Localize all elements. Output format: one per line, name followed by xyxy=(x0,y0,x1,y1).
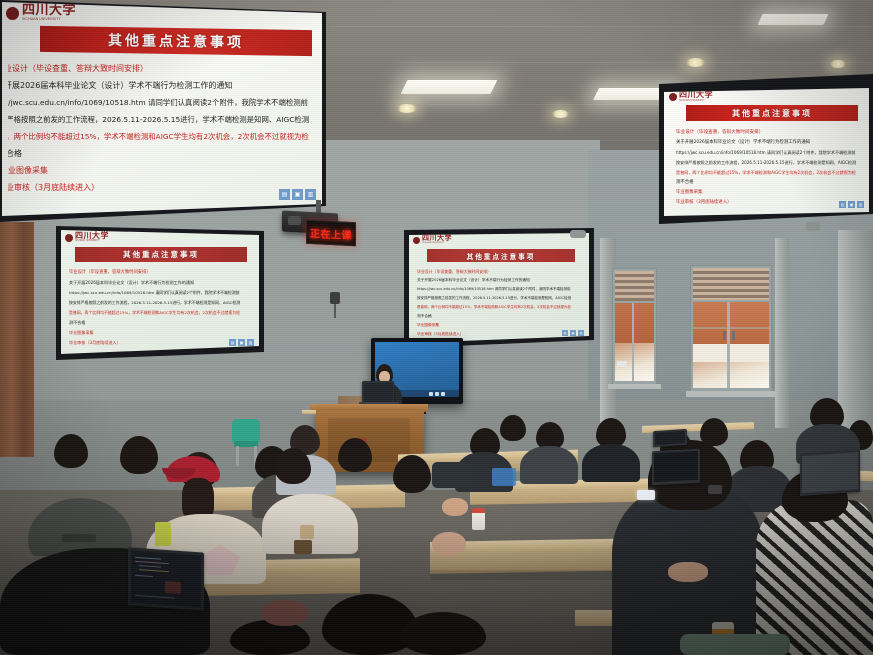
audience-head xyxy=(120,436,158,474)
window-handle-icon[interactable] xyxy=(723,331,726,340)
eyeglasses-icon xyxy=(708,485,722,494)
slide-line-2: 关于开展2026届本科毕业论文（设计）学术不端行为检测工作的通知 xyxy=(676,138,866,148)
desk-item-paper xyxy=(300,525,314,539)
slide-line-1: 毕业设计（毕设查重、答辩大致时间安排） xyxy=(69,268,255,278)
wall-vent-icon xyxy=(806,222,820,231)
slide-line-6: 测不合格 xyxy=(8,145,318,162)
slide-tool-icon-2[interactable]: ▣ xyxy=(848,201,855,208)
slide-line-2: 关于开展2026届本科毕业论文（设计）学术不端行为检测工作的通知 xyxy=(8,77,318,94)
student-laptop-screen xyxy=(655,431,685,445)
slide-corner-icons[interactable]: ▤ ▣ ▥ xyxy=(562,330,584,336)
slide-tool-icon-3[interactable]: ▥ xyxy=(578,330,584,336)
lectern-shelf xyxy=(302,410,316,414)
slide-body: 毕业设计（毕设查重、答辩大致时间安排） 关于开展2026届本科毕业论文（设计）学… xyxy=(69,268,255,352)
outside-brick-wall xyxy=(615,303,654,343)
student-hand xyxy=(668,562,708,582)
slide-line-4: 按安排严格按照之前发的工作流程，2026.5.11-2026.5.15进行，学术… xyxy=(676,158,866,168)
window-sill-small xyxy=(608,384,661,389)
audience-body xyxy=(582,444,640,482)
slide-line-5: 是普网，两个比例均不能超过15%，学术不端检测和AIGC学生均有2次机会，2次机… xyxy=(69,308,255,318)
university-name-cn: 四川大学 xyxy=(679,91,713,99)
presenter-laptop[interactable] xyxy=(362,381,394,403)
student-laptop-far[interactable] xyxy=(653,429,687,447)
audience-head xyxy=(500,415,526,441)
slide-line-1: 毕业设计（毕设查重、答辩大致时间安排） xyxy=(8,60,318,77)
laptop-content-block xyxy=(165,581,181,594)
window-sill-large xyxy=(686,391,776,397)
left-display-slide: 四川大学 SICHUAN UNIVERSITY 其他重点注意事项 毕业设计（毕设… xyxy=(61,230,259,354)
window-blind[interactable] xyxy=(693,268,769,300)
water-bottle-right[interactable] xyxy=(472,508,485,530)
slide-body: 毕业设计（毕设查重、答辩大致时间安排） 关于开展2026届本科毕业论文（设计）学… xyxy=(8,60,318,200)
foreground-head xyxy=(400,612,486,655)
slide-title: 其他重点注意事项 xyxy=(732,108,812,119)
spare-chair[interactable] xyxy=(232,419,260,443)
slide-line-8: 毕业审核（3月底陆续进入） xyxy=(676,198,866,208)
student-laptop-foreground[interactable] xyxy=(128,547,204,610)
slide-tool-icon-3[interactable]: ▥ xyxy=(305,189,316,200)
slide-line-8: 毕业审核（3月底陆续进入） xyxy=(69,338,255,348)
university-name-cn: 四川大学 xyxy=(22,4,76,17)
foreground-head xyxy=(230,620,310,655)
audience-head xyxy=(275,448,311,484)
slide-line-1: 毕业设计（毕设查重、答辩大致时间安排） xyxy=(417,267,585,276)
slide-line-5: 是普网，两个比例均不能超过15%，学术不端检测和AIGC学生均有2次机会，2次机… xyxy=(417,303,585,312)
desk-item-box xyxy=(294,540,312,554)
student-laptop-right[interactable] xyxy=(800,450,860,496)
slide-line-5: 是普网，两个比例均不能超过15%，学术不端检测和AIGC学生均有2次机会，2次机… xyxy=(676,168,866,178)
outside-pavement xyxy=(693,344,769,362)
ceiling-speaker-icon xyxy=(570,230,586,238)
university-seal-icon xyxy=(413,237,420,244)
slide-title-banner: 其他重点注意事项 xyxy=(686,105,858,121)
left-side-display[interactable]: 四川大学 SICHUAN UNIVERSITY 其他重点注意事项 毕业设计（毕设… xyxy=(56,226,264,360)
window-curtain-mid xyxy=(775,238,789,428)
led-sign-text: 正在上课 xyxy=(310,224,352,241)
presenter-laptop-screen xyxy=(364,383,393,402)
slide-line-8: 毕业审核（3月底陆续进入） xyxy=(8,179,318,196)
slide-line-6: 测不合格 xyxy=(676,178,866,188)
outside-vehicle xyxy=(617,361,627,367)
university-logo: 四川大学 SICHUAN UNIVERSITY xyxy=(669,91,713,102)
ceiling-downlight xyxy=(686,58,705,67)
green-bag-foreground xyxy=(680,634,790,655)
ceiling-downlight xyxy=(830,60,846,68)
slide-tool-icon-1[interactable]: ▤ xyxy=(562,330,568,336)
lecture-hall-photo: 四川大学 SICHUAN UNIVERSITY 其他重点注意事项 毕业设计（毕设… xyxy=(0,0,873,655)
slide-title: 其他重点注意事项 xyxy=(108,30,244,52)
window-large xyxy=(690,265,772,393)
slide-line-4: 按安排严格按照之前发的工作流程，2026.5.11-2026.5.15进行，学术… xyxy=(8,111,318,128)
audience-head xyxy=(54,434,88,468)
slide-line-7: 毕业图像采集 xyxy=(69,328,255,338)
slide-title: 其他重点注意事项 xyxy=(467,251,536,261)
ceiling-seam xyxy=(330,26,873,27)
center-display-slide: 四川大学 SICHUAN UNIVERSITY 其他重点注意事项 毕业设计（毕设… xyxy=(409,233,589,343)
grey-cap-strap xyxy=(62,534,96,542)
foreground-hand xyxy=(262,600,308,626)
slide-tool-icon-1[interactable]: ▤ xyxy=(279,189,290,200)
green-tumbler[interactable] xyxy=(155,522,171,546)
slide-line-7: 毕业图像采集 xyxy=(8,162,318,179)
right-display-slide: 四川大学 SICHUAN UNIVERSITY 其他重点注意事项 毕业设计（毕设… xyxy=(664,88,869,216)
university-name-en: SICHUAN UNIVERSITY xyxy=(422,242,452,245)
wall-camera-icon xyxy=(330,292,340,304)
slide-tool-icon-2[interactable]: ▣ xyxy=(238,339,245,346)
university-seal-icon xyxy=(65,234,73,242)
wall-camera-stem xyxy=(334,304,336,318)
slide-line-3: https://jwc.scu.edu.cn/info/1069/10518.h… xyxy=(69,288,255,298)
student-hand xyxy=(442,498,468,516)
student-laptop-screen xyxy=(131,551,201,608)
tshirt-graphic xyxy=(492,468,516,486)
taskbar-icon[interactable] xyxy=(441,392,445,396)
slide-line-2: 关于开展2026届本科毕业论文（设计）学术不端行为检测工作的通知 xyxy=(417,276,585,285)
audience-head xyxy=(338,438,372,472)
ceiling-panel-light xyxy=(758,14,829,25)
slide-corner-icons[interactable]: ▤ ▣ ▥ xyxy=(229,339,254,346)
plaid-hoodie-student xyxy=(756,500,873,655)
window-blind[interactable] xyxy=(615,271,654,301)
slide-line-2: 关于开展2026届本科毕业论文（设计）学术不端行为检测工作的通知 xyxy=(69,278,255,288)
spare-chair-leg xyxy=(236,446,239,466)
student-laptop-mid[interactable] xyxy=(652,449,700,486)
slide-line-6: 测不合格 xyxy=(417,312,585,321)
university-logo: 四川大学 SICHUAN UNIVERSITY xyxy=(65,232,109,243)
slide-body: 毕业设计（毕设查重、答辩大致时间安排） 关于开展2026届本科毕业论文（设计）学… xyxy=(417,267,585,343)
window-handle-icon[interactable] xyxy=(732,331,735,340)
window-glass xyxy=(693,302,769,388)
university-seal-icon xyxy=(6,7,19,20)
outside-brick-wall xyxy=(693,302,769,344)
right-wall-display[interactable]: 四川大学 SICHUAN UNIVERSITY 其他重点注意事项 毕业设计（毕设… xyxy=(655,74,873,224)
slide-line-5: 是普网，两个比例均不能超过15%，学术不端检测和AIGC学生均有2次机会，2次机… xyxy=(8,128,318,145)
taskbar-icon[interactable] xyxy=(429,392,433,396)
slide-title-banner: 其他重点注意事项 xyxy=(40,26,312,56)
slide-corner-icons[interactable]: ▤ ▣ ▥ xyxy=(839,201,864,208)
center-side-display[interactable]: 四川大学 SICHUAN UNIVERSITY 其他重点注意事项 毕业设计（毕设… xyxy=(404,228,594,348)
student-laptop-screen xyxy=(802,452,858,493)
university-logo: 四川大学 SICHUAN UNIVERSITY xyxy=(413,235,452,245)
led-status-sign: 正在上课 xyxy=(306,220,356,247)
slide-line-6: 测不合格 xyxy=(69,318,255,328)
student-hand xyxy=(432,532,466,556)
slide-line-7: 毕业图像采集 xyxy=(417,321,585,330)
slide-tool-icon-3[interactable]: ▥ xyxy=(857,201,864,208)
slide-line-4: 按安排严格按照之前发的工作流程，2026.5.11-2026.5.15进行，学术… xyxy=(417,294,585,303)
slide-tool-icon-2[interactable]: ▣ xyxy=(570,330,576,336)
ceiling-downlight xyxy=(552,110,569,118)
slide-corner-icons[interactable]: ▤ ▣ ▥ xyxy=(279,189,316,200)
main-projection-screen[interactable]: 四川大学 SICHUAN UNIVERSITY 其他重点注意事项 毕业设计（毕设… xyxy=(0,0,330,222)
smartphone-on-desk[interactable] xyxy=(637,490,655,500)
audience-body xyxy=(520,446,578,484)
university-logo: 四川大学 SICHUAN UNIVERSITY xyxy=(6,4,76,22)
slide-title: 其他重点注意事项 xyxy=(123,249,199,260)
university-name-en: SICHUAN UNIVERSITY xyxy=(679,99,713,102)
university-name-cn: 四川大学 xyxy=(422,235,452,242)
slide-line-3: https://jwc.scu.edu.cn/info/1069/10518.h… xyxy=(676,148,866,158)
slide-line-3: https://jwc.scu.edu.cn/info/1069/10518.h… xyxy=(417,285,585,294)
window-glass xyxy=(615,303,654,381)
university-name-en: SICHUAN UNIVERSITY xyxy=(75,240,109,243)
slide-body: 毕业设计（毕设查重、答辩大致时间安排） 关于开展2026届本科毕业论文（设计）学… xyxy=(676,128,866,214)
slide-line-1: 毕业设计（毕设查重、答辩大致时间安排） xyxy=(676,128,866,138)
taskbar-icon[interactable] xyxy=(435,392,439,396)
ceiling-seam xyxy=(400,62,873,63)
ceiling-panel-light xyxy=(401,80,498,94)
window-mullion xyxy=(693,327,769,329)
window-mullion xyxy=(632,303,634,381)
slide-tool-icon-1[interactable]: ▤ xyxy=(839,201,846,208)
slide-line-3: https://jwc.scu.edu.cn/info/1069/10518.h… xyxy=(8,94,318,111)
ceiling-downlight xyxy=(397,104,417,113)
window-curtain-right xyxy=(838,230,873,430)
slide-tool-icon-1[interactable]: ▤ xyxy=(229,339,236,346)
slide-tool-icon-2[interactable]: ▣ xyxy=(292,189,303,200)
backpack-on-desk xyxy=(432,462,472,488)
window-small xyxy=(612,268,657,386)
audience-head xyxy=(393,455,431,493)
slide-tool-icon-3[interactable]: ▥ xyxy=(247,339,254,346)
projector-lens-icon xyxy=(288,216,301,225)
slide-title-banner: 其他重点注意事项 xyxy=(75,247,247,262)
slide-line-4: 按安排严格按照之前发的工作流程，2026.5.11-2026.5.15进行，学术… xyxy=(69,298,255,308)
main-slide: 四川大学 SICHUAN UNIVERSITY 其他重点注意事项 毕业设计（毕设… xyxy=(2,2,324,216)
window-mullion xyxy=(727,302,730,388)
wood-wall-panel-left xyxy=(0,222,34,457)
slide-title-banner: 其他重点注意事项 xyxy=(427,249,575,262)
slide-line-7: 毕业图像采集 xyxy=(676,188,866,198)
student-laptop-screen xyxy=(654,451,698,482)
university-name-cn: 四川大学 xyxy=(75,232,109,240)
university-seal-icon xyxy=(669,93,677,101)
